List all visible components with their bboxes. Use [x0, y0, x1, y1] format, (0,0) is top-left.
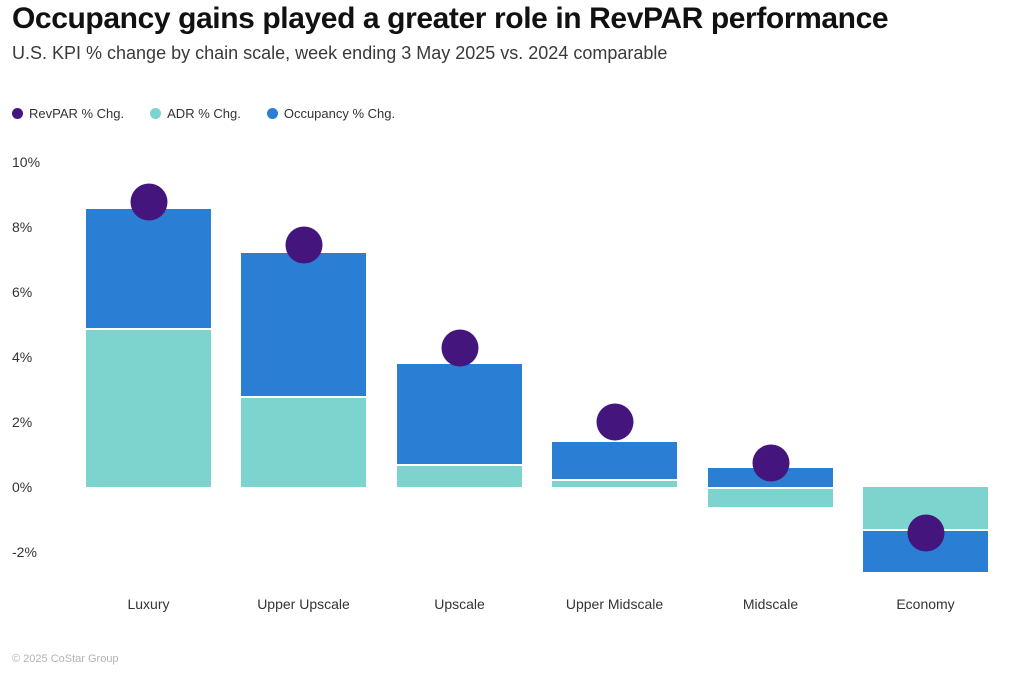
x-axis-label-midscale: Midscale [743, 596, 798, 612]
bar-segment-occupancy [552, 442, 677, 481]
bar-segment-occupancy [397, 364, 522, 467]
x-axis-label-upper-midscale: Upper Midscale [566, 596, 663, 612]
y-axis-tick-label: 0% [12, 479, 60, 495]
bar-segment-adr [397, 464, 522, 487]
bar-segment-adr [241, 396, 366, 487]
y-axis-tick-label: 4% [12, 349, 60, 365]
copyright-text: © 2025 CoStar Group [12, 653, 119, 665]
chart-page: Occupancy gains played a greater role in… [0, 0, 1024, 680]
bar-segment-occupancy [86, 209, 211, 330]
bar-segment-adr [708, 487, 833, 507]
revpar-marker-dot [596, 404, 633, 441]
y-axis-tick-label: -2% [12, 544, 60, 560]
x-axis-label-economy: Economy [896, 596, 954, 612]
plot-area: 10%8%6%4%2%0%-2%LuxuryUpper UpscaleUpsca… [0, 0, 1024, 680]
revpar-marker-dot [130, 183, 167, 220]
revpar-marker-dot [441, 329, 478, 366]
revpar-marker-dot [285, 226, 322, 263]
revpar-marker-dot [752, 444, 789, 481]
revpar-marker-dot [907, 515, 944, 552]
x-axis-label-upper-upscale: Upper Upscale [257, 596, 350, 612]
y-axis-tick-label: 6% [12, 284, 60, 300]
x-axis-label-upscale: Upscale [434, 596, 485, 612]
y-axis-tick-label: 8% [12, 219, 60, 235]
y-axis-tick-label: 2% [12, 414, 60, 430]
x-axis-label-luxury: Luxury [127, 596, 169, 612]
y-axis-tick-label: 10% [12, 154, 60, 170]
bar-segment-occupancy [241, 253, 366, 398]
bar-segment-adr [86, 328, 211, 487]
